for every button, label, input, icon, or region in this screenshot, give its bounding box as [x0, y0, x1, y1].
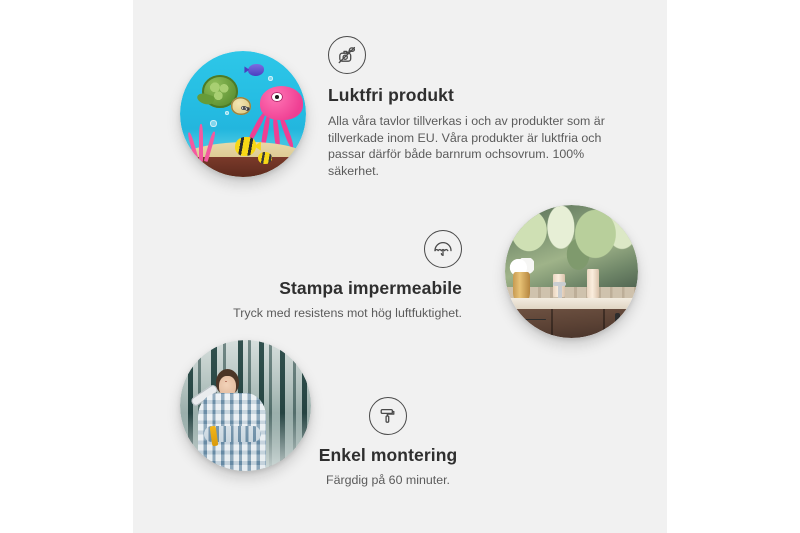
octopus-icon [251, 86, 304, 144]
paint-roller-icon [369, 397, 407, 435]
feature-odourless: Luktfri produkt Alla våra tavlor tillver… [328, 36, 628, 179]
feature-waterproof: Stampa impermeabile Tryck med resistens … [200, 230, 462, 322]
feature-body: Färgdig på 60 minuter. [288, 472, 488, 489]
screenshot-root: Luktfri produkt Alla våra tavlor tillver… [0, 0, 800, 533]
feature-body: Alla våra tavlor tillverkas i och av pro… [328, 113, 624, 179]
product-image-underwater[interactable] [180, 51, 306, 177]
coral-icon [188, 124, 221, 162]
wooden-vanity [505, 309, 638, 338]
feature-body: Tryck med resistens mot hög luftfuktighe… [200, 305, 462, 322]
umbrella-icon [424, 230, 462, 268]
faucet-icon [558, 282, 561, 299]
towel-roll-icon [587, 269, 599, 298]
feature-title: Luktfri produkt [328, 85, 628, 106]
painter-person [198, 369, 266, 471]
turtle-icon [198, 75, 248, 117]
striped-fish-icon [235, 137, 255, 156]
no-fragrance-icon [328, 36, 366, 74]
feature-title: Stampa impermeabile [200, 278, 462, 299]
bubble-icon [268, 76, 272, 80]
bathroom-scene [505, 205, 638, 338]
feature-title: Enkel montering [288, 445, 488, 466]
product-image-bathroom[interactable] [505, 205, 638, 338]
underwater-scene [180, 51, 306, 177]
feature-assembly: Enkel montering Färgdig på 60 minuter. [288, 397, 488, 489]
